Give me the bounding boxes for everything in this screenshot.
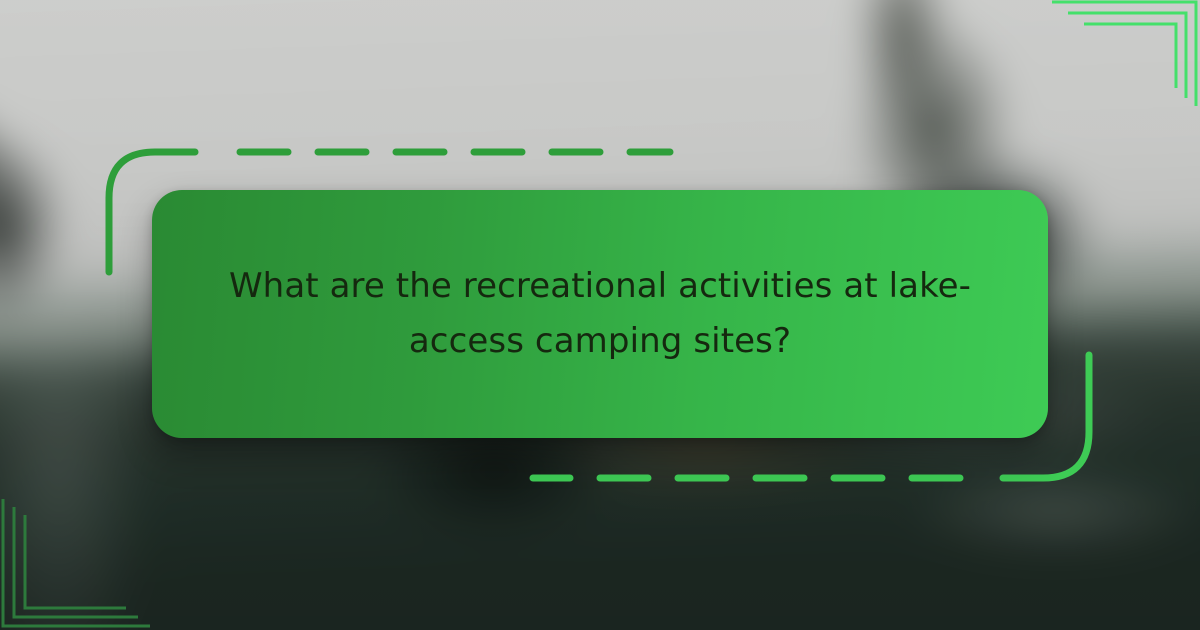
og-card-canvas: What are the recreational activities at … <box>0 0 1200 630</box>
question-text: What are the recreational activities at … <box>222 259 978 369</box>
corner-frame-bottom-left-icon <box>0 495 160 630</box>
corner-frame-top-right-icon <box>1040 0 1200 110</box>
question-card: What are the recreational activities at … <box>152 190 1048 438</box>
